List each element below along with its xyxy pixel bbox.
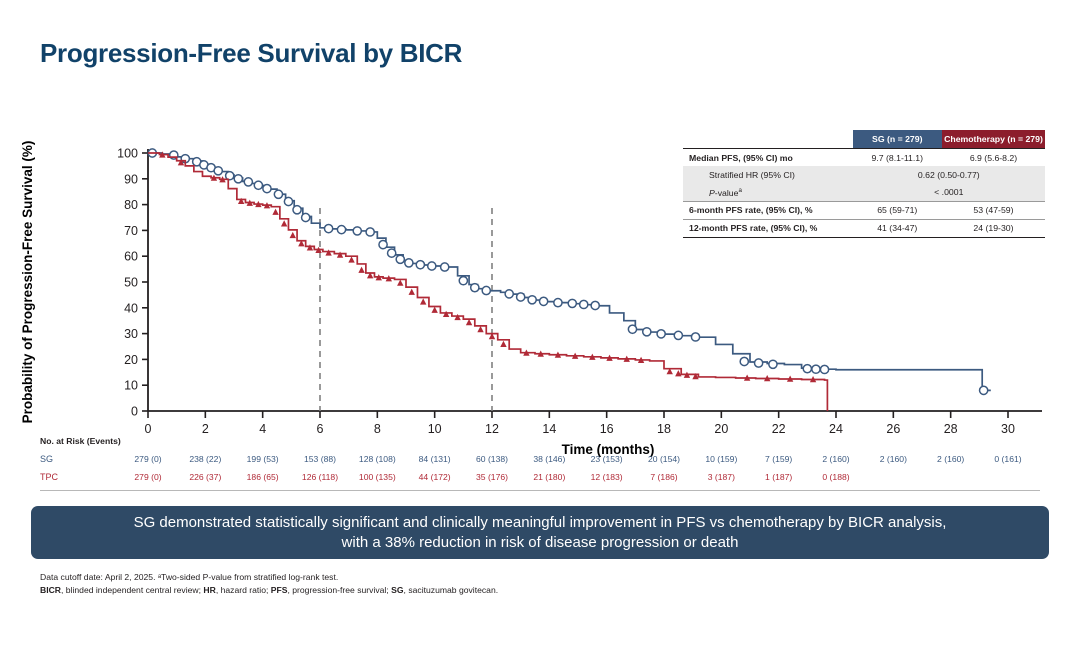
y-tick-label: 90: [124, 172, 138, 186]
censor-mark-circle: [803, 365, 811, 373]
censor-mark-triangle: [397, 280, 403, 286]
censor-mark-circle: [302, 213, 310, 221]
stats-row-label: P-valuea: [683, 183, 853, 201]
risk-cell: 44 (172): [419, 472, 451, 482]
y-tick-label: 80: [124, 198, 138, 212]
abbrev-definition: , sacituzumab govitecan.: [404, 585, 499, 595]
page-title: Progression-Free Survival by BICR: [40, 38, 462, 69]
stats-row: 12-month PFS rate, (95% CI), %41 (34-47)…: [683, 219, 1045, 237]
censor-mark-triangle: [272, 209, 278, 215]
censor-mark-circle: [755, 359, 763, 367]
abbrev-definition: , blinded independent central review;: [61, 585, 203, 595]
stats-row-value-sg: 9.7 (8.1-11.1): [853, 149, 942, 167]
y-tick-label: 30: [124, 327, 138, 341]
stats-row-label: Median PFS, (95% CI) mo: [683, 149, 853, 167]
censor-mark-circle: [379, 240, 387, 248]
censor-mark-circle: [428, 262, 436, 270]
x-tick-label: 22: [772, 422, 786, 436]
censor-mark-circle: [674, 331, 682, 339]
risk-cell: 2 (160): [822, 454, 849, 464]
x-tick-label: 24: [829, 422, 843, 436]
x-tick-label: 8: [374, 422, 381, 436]
x-tick-label: 14: [542, 422, 556, 436]
stats-row: Stratified HR (95% CI)0.62 (0.50-0.77): [683, 166, 1045, 183]
x-tick-label: 6: [317, 422, 324, 436]
stats-row: 6-month PFS rate, (95% CI), %65 (59-71)5…: [683, 201, 1045, 219]
censor-mark-circle: [293, 206, 301, 214]
censor-mark-triangle: [454, 314, 460, 320]
censor-mark-circle: [441, 263, 449, 271]
abbrev-term: BICR: [40, 585, 61, 595]
y-tick-label: 0: [131, 405, 138, 419]
censor-mark-circle: [405, 259, 413, 267]
y-tick-label: 10: [124, 379, 138, 393]
risk-cell: 60 (138): [476, 454, 508, 464]
risk-cell: 84 (131): [419, 454, 451, 464]
stats-row-value-combined: < .0001: [853, 183, 1045, 201]
censor-mark-circle: [691, 333, 699, 341]
footnote-marker: a: [738, 187, 741, 194]
censor-mark-triangle: [358, 267, 364, 273]
censor-mark-circle: [628, 325, 636, 333]
censor-mark-circle: [459, 277, 467, 285]
x-tick-label: 28: [944, 422, 958, 436]
risk-cell: 10 (159): [705, 454, 737, 464]
y-tick-label: 70: [124, 224, 138, 238]
censor-mark-circle: [540, 297, 548, 305]
risk-row-tpc: TPC279 (0)226 (37)186 (65)126 (118)100 (…: [40, 472, 1040, 488]
stats-row-value-chemotherapy: 6.9 (5.6-8.2): [942, 149, 1045, 167]
x-tick-label: 12: [485, 422, 499, 436]
censor-mark-circle: [528, 296, 536, 304]
risk-cell: 126 (118): [302, 472, 338, 482]
censor-mark-circle: [740, 357, 748, 365]
censor-mark-circle: [643, 328, 651, 336]
censor-mark-circle: [517, 293, 525, 301]
censor-mark-circle: [388, 249, 396, 257]
abbrev-term: HR: [203, 585, 215, 595]
risk-cell: 186 (65): [247, 472, 279, 482]
risk-cell: 0 (161): [994, 454, 1021, 464]
abbrev-term: PFS: [271, 585, 288, 595]
censor-mark-circle: [254, 181, 262, 189]
risk-row-label: SG: [40, 454, 53, 464]
y-tick-label: 20: [124, 353, 138, 367]
stats-row-label: 12-month PFS rate, (95% CI), %: [683, 219, 853, 237]
risk-cell: 0 (188): [822, 472, 849, 482]
risk-table-title: No. at Risk (Events): [40, 436, 121, 446]
stats-header-chemotherapy: Chemotherapy (n = 279): [942, 130, 1045, 149]
censor-mark-triangle: [477, 326, 483, 332]
y-tick-label: 40: [124, 301, 138, 315]
risk-cell: 20 (154): [648, 454, 680, 464]
censor-mark-circle: [482, 286, 490, 294]
stats-row-value-chemotherapy: 53 (47-59): [942, 201, 1045, 219]
risk-row-label: TPC: [40, 472, 58, 482]
conclusion-banner: SG demonstrated statistically significan…: [31, 506, 1049, 559]
risk-cell: 238 (22): [189, 454, 221, 464]
censor-mark-circle: [554, 299, 562, 307]
risk-cell: 3 (187): [708, 472, 735, 482]
censor-mark-circle: [274, 190, 282, 198]
y-axis-title: Probability of Progression-Free Survival…: [20, 141, 35, 424]
stats-row-value-sg: 65 (59-71): [853, 201, 942, 219]
abbrev-definition: , hazard ratio;: [216, 585, 271, 595]
risk-cell: 35 (176): [476, 472, 508, 482]
censor-mark-circle: [337, 226, 345, 234]
footnotes: Data cutoff date: April 2, 2025. ᵃTwo-si…: [40, 571, 1030, 597]
stats-row: P-valuea< .0001: [683, 183, 1045, 201]
censor-mark-circle: [214, 167, 222, 175]
stats-row-label: 6-month PFS rate, (95% CI), %: [683, 201, 853, 219]
censor-mark-circle: [568, 299, 576, 307]
risk-cell: 7 (186): [650, 472, 677, 482]
stats-header-sg: SG (n = 279): [853, 130, 942, 149]
censor-mark-circle: [284, 197, 292, 205]
risk-cell: 100 (135): [359, 472, 396, 482]
x-tick-label: 26: [886, 422, 900, 436]
censor-mark-circle: [396, 255, 404, 263]
stats-row-value-sg: 41 (34-47): [853, 219, 942, 237]
censor-mark-triangle: [337, 251, 343, 257]
censor-mark-triangle: [420, 298, 426, 304]
x-tick-label: 0: [145, 422, 152, 436]
x-tick-label: 16: [600, 422, 614, 436]
censor-mark-triangle: [431, 307, 437, 313]
stats-header-row: SG (n = 279)Chemotherapy (n = 279): [683, 130, 1045, 149]
x-tick-label: 2: [202, 422, 209, 436]
banner-line-1: SG demonstrated statistically significan…: [134, 514, 947, 531]
slide-root: Progression-Free Survival by BICR 010203…: [0, 0, 1080, 657]
censor-mark-triangle: [500, 341, 506, 347]
risk-cell: 279 (0): [134, 472, 161, 482]
footnote-line-2: BICR, blinded independent central review…: [40, 584, 1030, 597]
risk-cell: 2 (160): [880, 454, 907, 464]
censor-mark-circle: [234, 175, 242, 183]
abbrev-definition: , progression-free survival;: [287, 585, 391, 595]
censor-mark-triangle: [325, 249, 331, 255]
x-tick-label: 4: [259, 422, 266, 436]
risk-cell: 153 (88): [304, 454, 336, 464]
risk-cell: 279 (0): [134, 454, 161, 464]
x-tick-label: 10: [428, 422, 442, 436]
risk-cell: 12 (183): [591, 472, 623, 482]
censor-mark-triangle: [281, 220, 287, 226]
banner-line-2: with a 38% reduction in risk of disease …: [342, 534, 739, 551]
stats-row-value-chemotherapy: 24 (19-30): [942, 219, 1045, 237]
x-tick-label: 18: [657, 422, 671, 436]
y-tick-label: 100: [117, 147, 138, 161]
risk-cell: 7 (159): [765, 454, 792, 464]
censor-mark-circle: [416, 261, 424, 269]
censor-mark-triangle: [290, 232, 296, 238]
censor-mark-circle: [980, 386, 988, 394]
efficacy-stats-table: SG (n = 279)Chemotherapy (n = 279)Median…: [683, 130, 1045, 238]
risk-row-sg: SG279 (0)238 (22)199 (53)153 (88)128 (10…: [40, 454, 1040, 470]
censor-mark-triangle: [443, 311, 449, 317]
x-tick-label: 30: [1001, 422, 1015, 436]
censor-mark-circle: [657, 330, 665, 338]
risk-cell: 38 (146): [533, 454, 565, 464]
censor-mark-circle: [244, 178, 252, 186]
x-tick-label: 20: [714, 422, 728, 436]
censor-mark-circle: [812, 365, 820, 373]
censor-mark-triangle: [409, 289, 415, 295]
censor-mark-circle: [591, 301, 599, 309]
censor-mark-circle: [366, 228, 374, 236]
risk-cell: 21 (180): [533, 472, 565, 482]
abbrev-term: SG: [391, 585, 403, 595]
censor-mark-triangle: [348, 256, 354, 262]
censor-mark-circle: [353, 227, 361, 235]
stats-row: Median PFS, (95% CI) mo9.7 (8.1-11.1)6.9…: [683, 149, 1045, 167]
stats-row-value-combined: 0.62 (0.50-0.77): [853, 166, 1045, 183]
risk-cell: 23 (153): [591, 454, 623, 464]
censor-mark-circle: [580, 300, 588, 308]
y-tick-label: 60: [124, 250, 138, 264]
y-tick-label: 50: [124, 276, 138, 290]
censor-mark-circle: [263, 185, 271, 193]
risk-cell: 1 (187): [765, 472, 792, 482]
stats-row-label: Stratified HR (95% CI): [683, 166, 853, 183]
censor-mark-triangle: [307, 244, 313, 250]
stats-header-blank: [683, 130, 853, 149]
censor-mark-circle: [820, 365, 828, 373]
censor-mark-circle: [505, 290, 513, 298]
footnote-line-1: Data cutoff date: April 2, 2025. ᵃTwo-si…: [40, 571, 1030, 584]
risk-table-rule: [40, 490, 1040, 491]
risk-cell: 226 (37): [189, 472, 221, 482]
censor-mark-circle: [471, 284, 479, 292]
censor-mark-circle: [769, 360, 777, 368]
risk-cell: 2 (160): [937, 454, 964, 464]
risk-cell: 128 (108): [359, 454, 396, 464]
censor-mark-circle: [325, 224, 333, 232]
risk-cell: 199 (53): [247, 454, 279, 464]
